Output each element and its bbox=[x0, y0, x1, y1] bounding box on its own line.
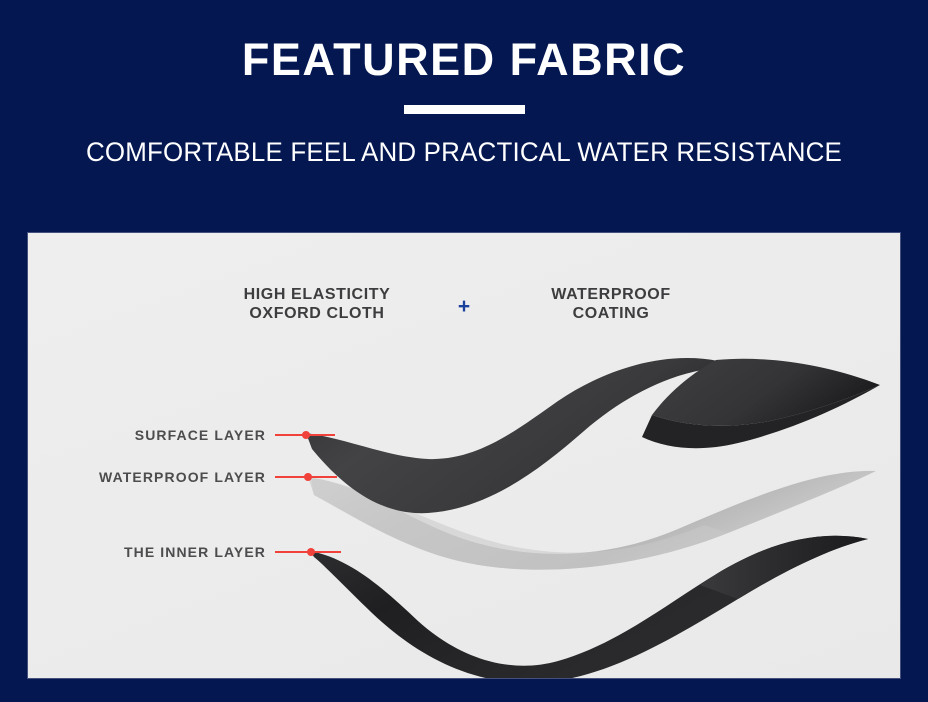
banner-header: FEATURED FABRIC COMFORTABLE FEEL AND PRA… bbox=[0, 0, 928, 168]
title-underline-rule bbox=[404, 105, 525, 114]
page-subtitle: COMFORTABLE FEEL AND PRACTICAL WATER RES… bbox=[19, 114, 910, 168]
page-title: FEATURED FABRIC bbox=[0, 0, 928, 87]
product-feature-banner: FEATURED FABRIC COMFORTABLE FEEL AND PRA… bbox=[0, 0, 928, 702]
layered-fabric-illustration bbox=[28, 233, 900, 678]
fabric-diagram-panel: HIGH ELASTICITY OXFORD CLOTH + WATERPROO… bbox=[28, 233, 900, 678]
